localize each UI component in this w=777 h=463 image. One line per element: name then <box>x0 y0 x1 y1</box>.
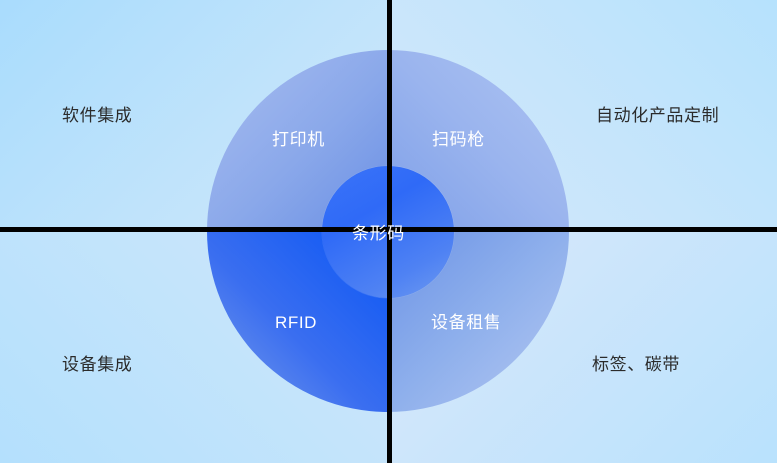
outer-label-software-integration: 软件集成 <box>62 107 132 124</box>
ring-label-rental: 设备租售 <box>431 314 501 331</box>
ring-label-rfid: RFID <box>275 314 317 331</box>
outer-label-automation-customizing: 自动化产品定制 <box>596 107 719 124</box>
ring-label-scanner: 扫码枪 <box>432 131 485 148</box>
center-hub-label: 条形码 <box>352 225 405 242</box>
ring-label-printer: 打印机 <box>272 131 325 148</box>
outer-label-device-integration: 设备集成 <box>62 356 132 373</box>
diagram-canvas: 软件集成 自动化产品定制 设备集成 标签、碳带 打印机 扫码枪 RFID 设备租… <box>0 0 777 463</box>
outer-label-labels-ribbons: 标签、碳带 <box>592 356 680 373</box>
